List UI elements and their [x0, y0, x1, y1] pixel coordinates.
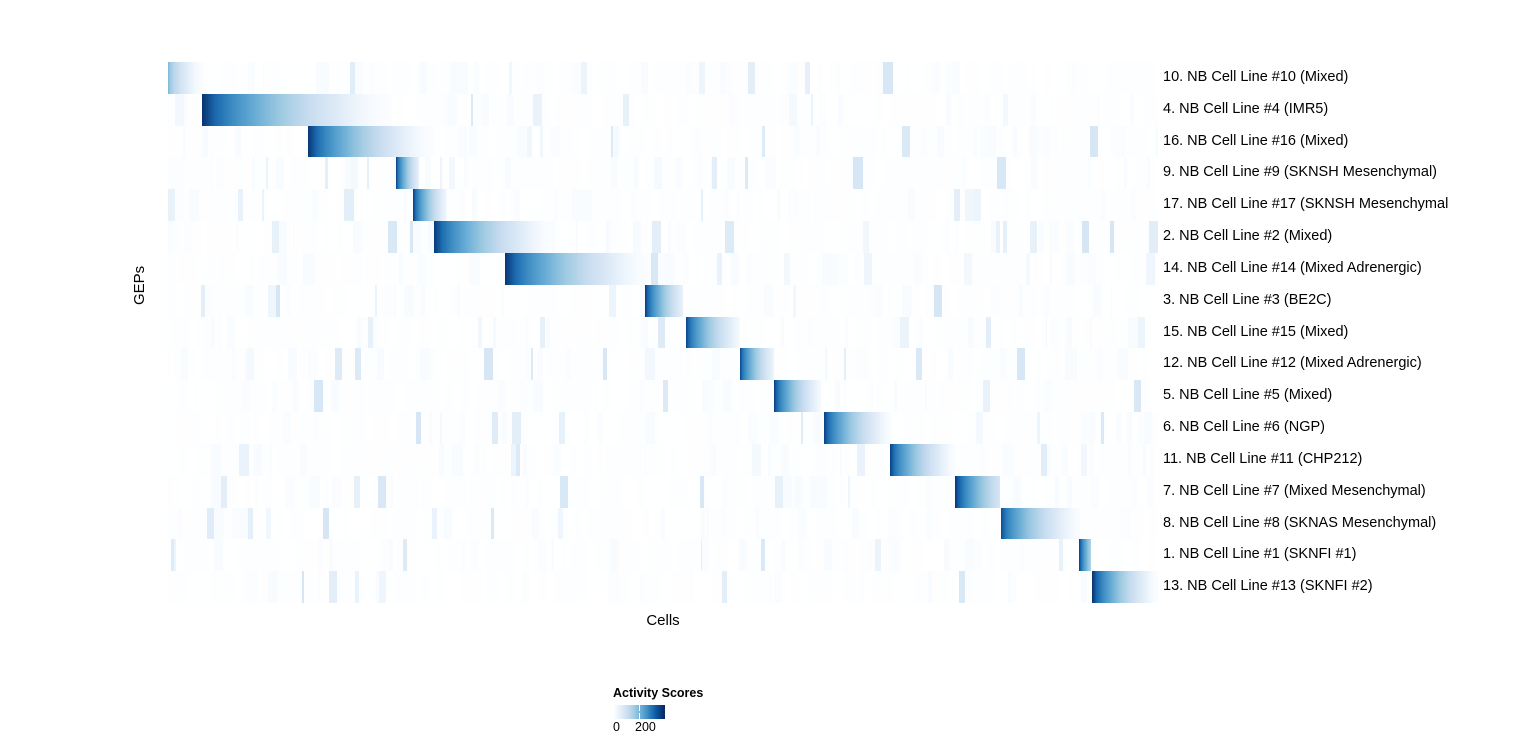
heatmap-row	[168, 62, 1158, 94]
heatmap-row-background	[168, 539, 1158, 571]
row-label: 8. NB Cell Line #8 (SKNAS Mesenchymal)	[1163, 508, 1436, 540]
heatmap-activity-block	[774, 380, 822, 412]
heatmap-activity-block	[686, 317, 740, 349]
heatmap-row	[168, 412, 1158, 444]
heatmap-row-background	[168, 317, 1158, 349]
row-label: 10. NB Cell Line #10 (Mixed)	[1163, 62, 1348, 94]
heatmap-activity-block	[505, 253, 651, 285]
heatmap-row	[168, 317, 1158, 349]
heatmap-activity-block	[308, 126, 436, 158]
heatmap-row-background	[168, 157, 1158, 189]
y-axis-label: GEPs	[131, 266, 148, 305]
row-label: 11. NB Cell Line #11 (CHP212)	[1163, 444, 1362, 476]
row-label: 15. NB Cell Line #15 (Mixed)	[1163, 317, 1348, 349]
heatmap-activity-block	[645, 285, 683, 317]
heatmap-row	[168, 508, 1158, 540]
heatmap-row-background	[168, 444, 1158, 476]
heatmap-figure: GEPs Cells 10. NB Cell Line #10 (Mixed)4…	[0, 0, 1540, 743]
heatmap-row-background	[168, 253, 1158, 285]
heatmap-row	[168, 539, 1158, 571]
x-axis-label: Cells	[168, 612, 1158, 629]
heatmap-row	[168, 221, 1158, 253]
row-label: 4. NB Cell Line #4 (IMR5)	[1163, 94, 1328, 126]
heatmap-row	[168, 444, 1158, 476]
row-label: 12. NB Cell Line #12 (Mixed Adrenergic)	[1163, 348, 1422, 380]
heatmap-row	[168, 157, 1158, 189]
colorbar-gradient	[613, 705, 665, 719]
row-label: 17. NB Cell Line #17 (SKNSH Mesenchymal	[1163, 189, 1448, 221]
row-label: 2. NB Cell Line #2 (Mixed)	[1163, 221, 1332, 253]
heatmap-activity-block	[413, 189, 448, 221]
heatmap-row	[168, 571, 1158, 603]
heatmap-activity-block	[202, 94, 392, 126]
colorbar-legend: Activity Scores 0200	[613, 686, 813, 736]
heatmap-plot-area	[168, 62, 1158, 603]
row-label: 9. NB Cell Line #9 (SKNSH Mesenchymal)	[1163, 157, 1437, 189]
heatmap-row-background	[168, 476, 1158, 508]
heatmap-row	[168, 348, 1158, 380]
heatmap-activity-block	[824, 412, 890, 444]
row-label: 14. NB Cell Line #14 (Mixed Adrenergic)	[1163, 253, 1422, 285]
heatmap-activity-block	[1092, 571, 1158, 603]
heatmap-row	[168, 285, 1158, 317]
row-label: 5. NB Cell Line #5 (Mixed)	[1163, 380, 1332, 412]
heatmap-row	[168, 189, 1158, 221]
heatmap-row-background	[168, 62, 1158, 94]
heatmap-row	[168, 380, 1158, 412]
heatmap-row	[168, 476, 1158, 508]
colorbar-tick-labels: 0200	[613, 720, 703, 736]
heatmap-activity-block	[1079, 539, 1091, 571]
row-label: 13. NB Cell Line #13 (SKNFI #2)	[1163, 571, 1373, 603]
heatmap-row-background	[168, 348, 1158, 380]
heatmap-row-background	[168, 412, 1158, 444]
heatmap-activity-block	[434, 221, 552, 253]
row-label: 1. NB Cell Line #1 (SKNFI #1)	[1163, 539, 1356, 571]
heatmap-row-background	[168, 571, 1158, 603]
heatmap-row	[168, 94, 1158, 126]
heatmap-activity-block	[1001, 508, 1078, 540]
heatmap-activity-block	[168, 62, 202, 94]
colorbar-tick-lower	[639, 713, 641, 719]
row-label: 7. NB Cell Line #7 (Mixed Mesenchymal)	[1163, 476, 1426, 508]
heatmap-activity-block	[396, 157, 420, 189]
row-label: 16. NB Cell Line #16 (Mixed)	[1163, 126, 1348, 158]
heatmap-row-background	[168, 189, 1158, 221]
heatmap-row-background	[168, 221, 1158, 253]
row-label: 3. NB Cell Line #3 (BE2C)	[1163, 285, 1331, 317]
colorbar-title: Activity Scores	[613, 686, 813, 700]
row-label: 6. NB Cell Line #6 (NGP)	[1163, 412, 1325, 444]
heatmap-activity-block	[890, 444, 955, 476]
heatmap-activity-block	[955, 476, 1000, 508]
row-label-list: 10. NB Cell Line #10 (Mixed)4. NB Cell L…	[1163, 62, 1533, 603]
heatmap-activity-block	[740, 348, 774, 380]
heatmap-row	[168, 253, 1158, 285]
heatmap-row-background	[168, 380, 1158, 412]
colorbar-tick-upper	[639, 705, 641, 711]
colorbar-tick-label: 200	[635, 720, 656, 734]
heatmap-row	[168, 126, 1158, 158]
colorbar-tick-label: 0	[613, 720, 620, 734]
